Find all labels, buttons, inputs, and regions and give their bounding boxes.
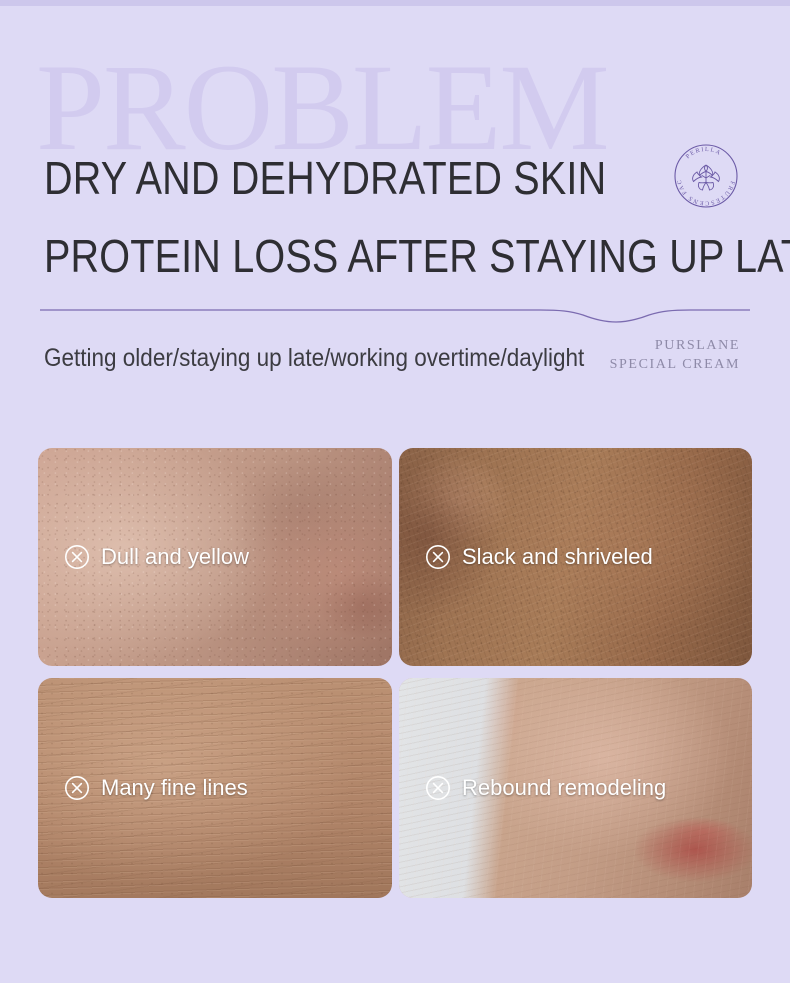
perilla-face-cream-badge: PERILLA FRUTESCENS FACE CREAM <box>671 141 741 211</box>
brandmark-line-1: PURSLANE <box>610 336 740 355</box>
brandmark: PURSLANE SPECIAL CREAM <box>610 336 740 374</box>
card-label-text: Dull and yellow <box>101 545 249 569</box>
section-divider <box>40 302 750 328</box>
page-title-line-2: PROTEIN LOSS AFTER STAYING UP LATE <box>44 232 790 280</box>
card-label-text: Slack and shriveled <box>462 545 653 569</box>
top-edge-strip <box>0 0 790 6</box>
brandmark-line-2: SPECIAL CREAM <box>610 355 740 374</box>
card-rebound-remodeling[interactable]: Rebound remodeling <box>399 678 752 898</box>
card-label: Rebound remodeling <box>425 775 666 801</box>
card-label: Many fine lines <box>64 775 248 801</box>
bottom-edge-strip <box>0 983 790 989</box>
circle-x-icon <box>425 544 451 570</box>
circle-x-icon <box>64 544 90 570</box>
card-label: Slack and shriveled <box>425 544 653 570</box>
problem-card-grid: Dull and yellow Slack and shriveled Many <box>38 448 752 898</box>
card-label-text: Rebound remodeling <box>462 776 666 800</box>
card-many-fine-lines[interactable]: Many fine lines <box>38 678 392 898</box>
problem-page: PROBLEM DRY AND DEHYDRATED SKIN PROTEIN … <box>0 0 790 989</box>
card-label: Dull and yellow <box>64 544 249 570</box>
subtitle-causes: Getting older/staying up late/working ov… <box>44 343 584 373</box>
circle-x-icon <box>64 775 90 801</box>
card-slack-shriveled[interactable]: Slack and shriveled <box>399 448 752 666</box>
card-dull-yellow[interactable]: Dull and yellow <box>38 448 392 666</box>
circle-x-icon <box>425 775 451 801</box>
card-label-text: Many fine lines <box>101 776 248 800</box>
page-title-line-1: DRY AND DEHYDRATED SKIN <box>44 154 606 202</box>
problem-watermark-text: PROBLEM <box>36 52 656 164</box>
problem-watermark: PROBLEM <box>36 52 656 164</box>
